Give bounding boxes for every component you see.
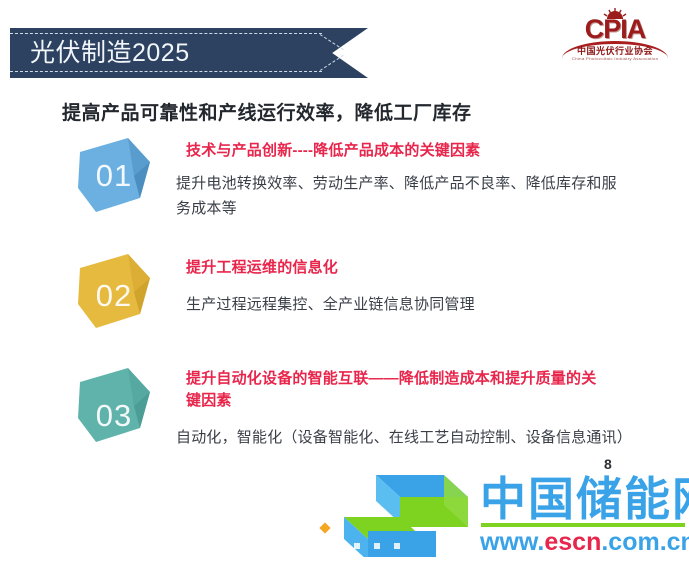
item-title: 技术与产品创新----降低产品成本的关键因素 — [186, 140, 646, 162]
badge-03: 03 — [76, 366, 152, 444]
watermark-url: www.escn.com.cn — [480, 527, 689, 557]
item-body: 自动化，智能化（设备智能化、在线工艺自动控制、设备信息通讯） — [176, 425, 628, 450]
item-title: 提升自动化设备的智能互联——降低制造成本和提升质量的关键因素 — [186, 368, 608, 412]
item-title: 提升工程运维的信息化 — [186, 257, 646, 279]
item-body: 生产过程远程集控、全产业链信息协同管理 — [186, 292, 638, 317]
pentagon-badge-icon — [76, 136, 152, 214]
watermark-site-name: 中国储能网 — [480, 473, 689, 525]
headline: 提高产品可靠性和产线运行效率，降低工厂库存 — [62, 98, 472, 125]
pentagon-badge-icon — [76, 252, 152, 330]
badge-01: 01 — [76, 136, 152, 214]
slide-canvas: CPIA 中国光伏行业协会 China Photovoltaic Industr… — [0, 0, 689, 562]
orange-diamond-dot — [319, 522, 330, 533]
item-body: 提升电池转换效率、劳动生产率、降低产品不良率、降低库存和服务成本等 — [176, 171, 628, 221]
watermark-url-suffix: .com.cn — [601, 528, 689, 556]
watermark-url-accent: escn — [544, 528, 601, 556]
escn-cube-logo-icon — [340, 471, 480, 557]
cpia-acronym: CPIA — [556, 15, 674, 43]
ribbon-stitch-top — [10, 33, 322, 34]
pentagon-badge-icon — [76, 366, 152, 444]
cpia-logo: CPIA 中国光伏行业协会 China Photovoltaic Industr… — [556, 8, 674, 66]
escn-watermark: 中国储能网 www.escn.com.cn — [340, 471, 685, 557]
cpia-chinese-name: 中国光伏行业协会 — [556, 46, 674, 56]
badge-02: 02 — [76, 252, 152, 330]
page-title: 光伏制造2025 — [30, 38, 190, 68]
ribbon-stitch-bottom — [10, 71, 322, 72]
cpia-english-name: China Photovoltaic Industry Association — [556, 56, 674, 61]
page-number: 8 — [604, 456, 612, 472]
watermark-url-prefix: www. — [480, 528, 544, 556]
